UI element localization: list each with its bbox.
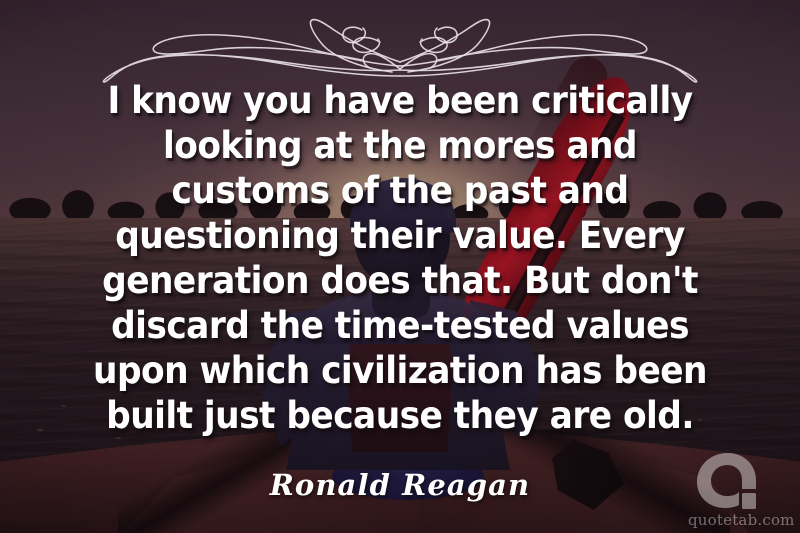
quote-line: generation does that. But don't (52, 258, 748, 303)
quotetab-q-logo-icon (688, 449, 792, 513)
quote-line: looking at the mores and (52, 123, 748, 168)
quote-image-card: I know you have been critically looking … (0, 0, 800, 533)
quote-line: questioning their value. Every (52, 213, 748, 258)
quote-line: built just because they are old. (52, 393, 748, 438)
watermark-site-label: quotetab.com (688, 511, 792, 529)
quote-line: upon which civilization has been (52, 348, 748, 393)
watermark[interactable]: quotetab.com (688, 449, 792, 529)
quote-author: Ronald Reagan (0, 468, 800, 502)
quote-text: I know you have been critically looking … (0, 78, 800, 438)
quote-line: customs of the past and (52, 168, 748, 213)
quote-line: discard the time-tested values (52, 303, 748, 348)
quote-line: I know you have been critically (52, 78, 748, 123)
decorative-flourish-icon (70, 6, 730, 84)
